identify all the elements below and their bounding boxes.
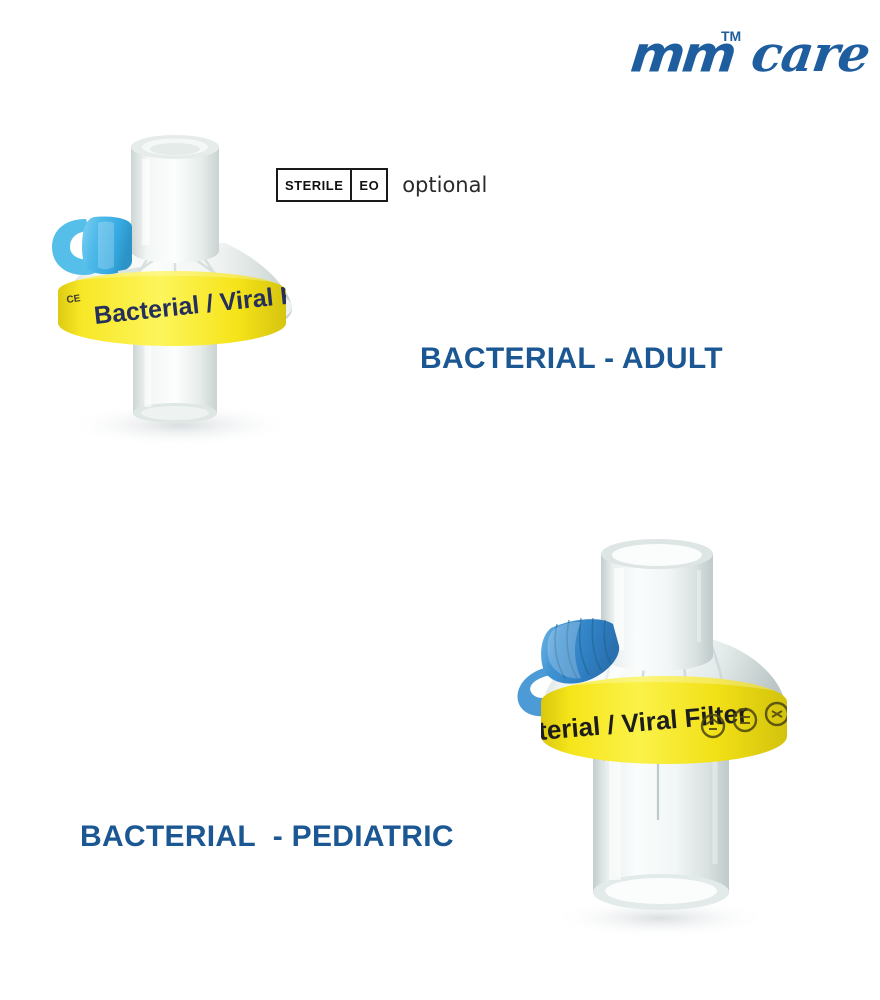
product-image-adult-filter: Bacterial / Viral Filter CE [20,95,370,455]
adult-top-port [131,135,219,263]
logo-trademark-icon: TM [721,28,741,44]
adult-label-band: Bacterial / Viral Filter CE [58,268,343,346]
pediatric-label-band: terial / Viral Filter [537,672,789,764]
logo-wordmark-care: care [748,24,873,83]
product-image-pediatric-filter: terial / Viral Filter [495,520,825,940]
sterile-optional-note: optional [402,175,487,196]
brand-logo: mm TM care [628,22,858,84]
product-caption-pediatric: BACTERIAL - PEDIATRIC [80,820,454,854]
ce-mark-icon: CE [66,293,82,306]
product-caption-adult: BACTERIAL - ADULT [420,342,723,376]
